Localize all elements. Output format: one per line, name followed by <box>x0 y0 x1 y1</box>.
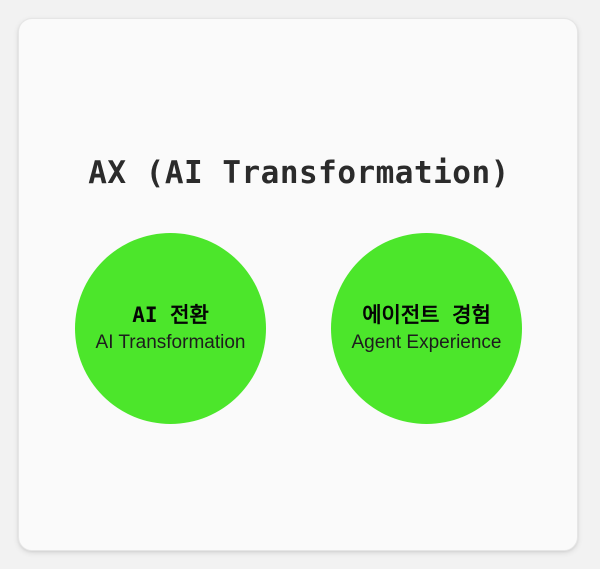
diagram-canvas: AX (AI Transformation) AI 전환 AI Transfor… <box>0 0 600 569</box>
page-title: AX (AI Transformation) <box>19 151 578 195</box>
node-heading: 에이전트 경험 <box>362 302 491 328</box>
node-subtitle: Agent Experience <box>352 331 502 355</box>
node-agent-experience[interactable]: 에이전트 경험 Agent Experience <box>331 233 522 424</box>
node-subtitle: AI Transformation <box>96 331 246 355</box>
diagram-card: AX (AI Transformation) AI 전환 AI Transfor… <box>18 18 578 551</box>
node-ai-transformation[interactable]: AI 전환 AI Transformation <box>75 233 266 424</box>
node-heading: AI 전환 <box>132 302 209 328</box>
